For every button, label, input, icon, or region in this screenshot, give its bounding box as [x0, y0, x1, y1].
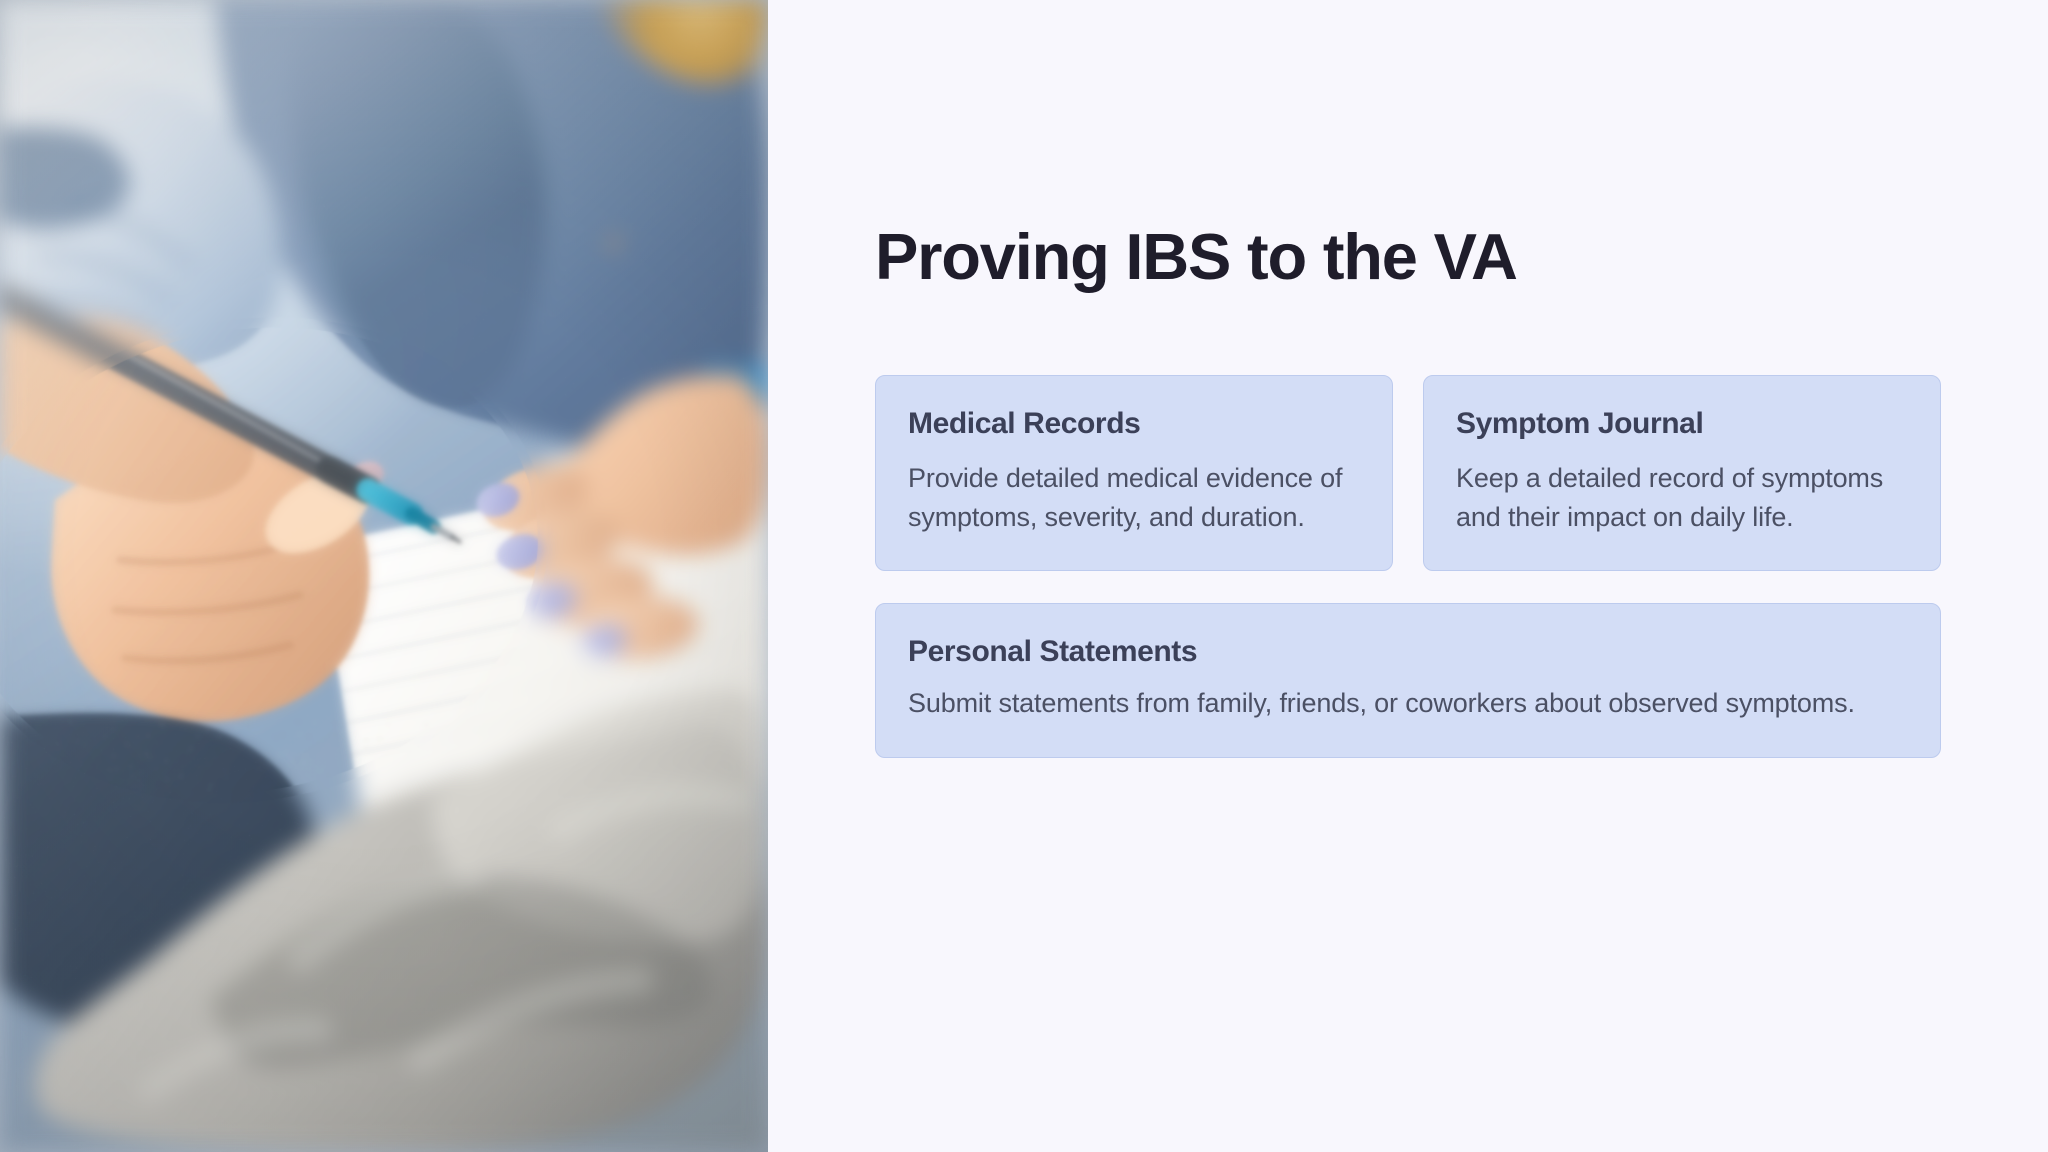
card-body: Submit statements from family, friends, … [908, 684, 1908, 723]
card-row-bottom: Personal Statements Submit statements fr… [875, 603, 1941, 758]
card-title: Personal Statements [908, 634, 1908, 670]
card-body: Provide detailed medical evidence of sym… [908, 459, 1360, 536]
card-body: Keep a detailed record of symptoms and t… [1456, 459, 1908, 536]
page-title: Proving IBS to the VA [875, 222, 1517, 292]
slide-root: Proving IBS to the VA Medical Records Pr… [0, 0, 2048, 1152]
card-symptom-journal[interactable]: Symptom Journal Keep a detailed record o… [1423, 375, 1941, 571]
info-cards-area: Medical Records Provide detailed medical… [875, 375, 1941, 758]
card-medical-records[interactable]: Medical Records Provide detailed medical… [875, 375, 1393, 571]
hero-photo-panel [0, 0, 768, 1152]
card-row-top: Medical Records Provide detailed medical… [875, 375, 1941, 571]
person-writing-in-notebook-photo [0, 0, 768, 1152]
content-panel: Proving IBS to the VA Medical Records Pr… [768, 0, 2048, 1152]
card-title: Symptom Journal [1456, 406, 1908, 442]
card-title: Medical Records [908, 406, 1360, 442]
card-personal-statements[interactable]: Personal Statements Submit statements fr… [875, 603, 1941, 758]
